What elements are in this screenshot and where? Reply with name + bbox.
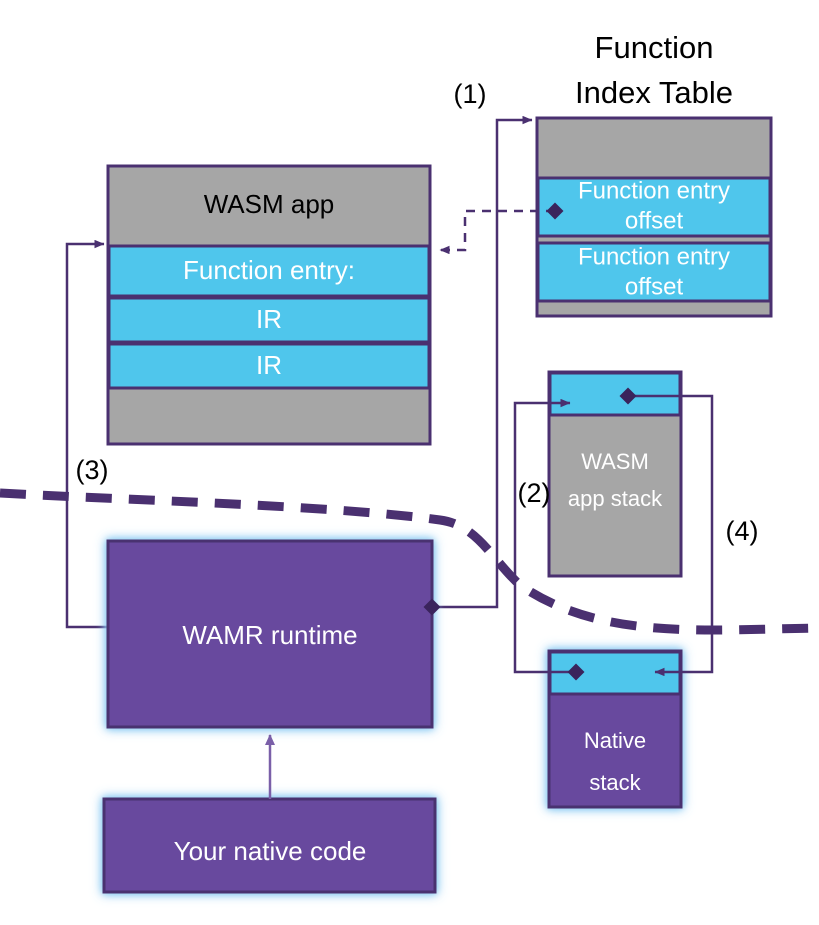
native-stack-box: Native stack [549, 651, 681, 807]
fit-title-line2: Index Table [575, 75, 733, 110]
wamr-runtime-label: WAMR runtime [182, 620, 357, 650]
wasm-app-stack-label-line1: WASM [581, 449, 649, 474]
function-index-table-box: Function entry offset Function entry off… [537, 118, 771, 316]
fit-title-line1: Function [595, 30, 714, 65]
step-2-label: (2) [518, 478, 551, 508]
wasm-app-title: WASM app [204, 189, 335, 219]
wamr-runtime-box: WAMR runtime [108, 541, 440, 727]
step-1-label: (1) [454, 79, 487, 109]
wasm-app-stack-top-frame [550, 373, 680, 415]
native-stack-label-line2: stack [589, 770, 641, 795]
step-4-label: (4) [726, 516, 759, 546]
native-code-box: Your native code [104, 799, 435, 892]
fit-entry-1-line1: Function entry [578, 177, 730, 204]
step-3-label: (3) [76, 455, 109, 485]
wasm-app-box: WASM app Function entry: IR IR [108, 166, 430, 444]
fit-entry-1-line2: offset [625, 207, 684, 234]
wasm-app-row-2-label: IR [256, 350, 282, 380]
wasm-app-row-0-label: Function entry: [183, 255, 355, 285]
wasm-app-row-1-label: IR [256, 304, 282, 334]
fit-entry-2-line2: offset [625, 273, 684, 300]
native-code-label: Your native code [174, 836, 367, 866]
fit-entry-2-line1: Function entry [578, 243, 730, 270]
native-stack-label-line1: Native [584, 728, 646, 753]
wasm-app-stack-label-line2: app stack [568, 486, 663, 511]
wamr-architecture-diagram: Function Index Table (1) Function entry … [0, 0, 819, 925]
